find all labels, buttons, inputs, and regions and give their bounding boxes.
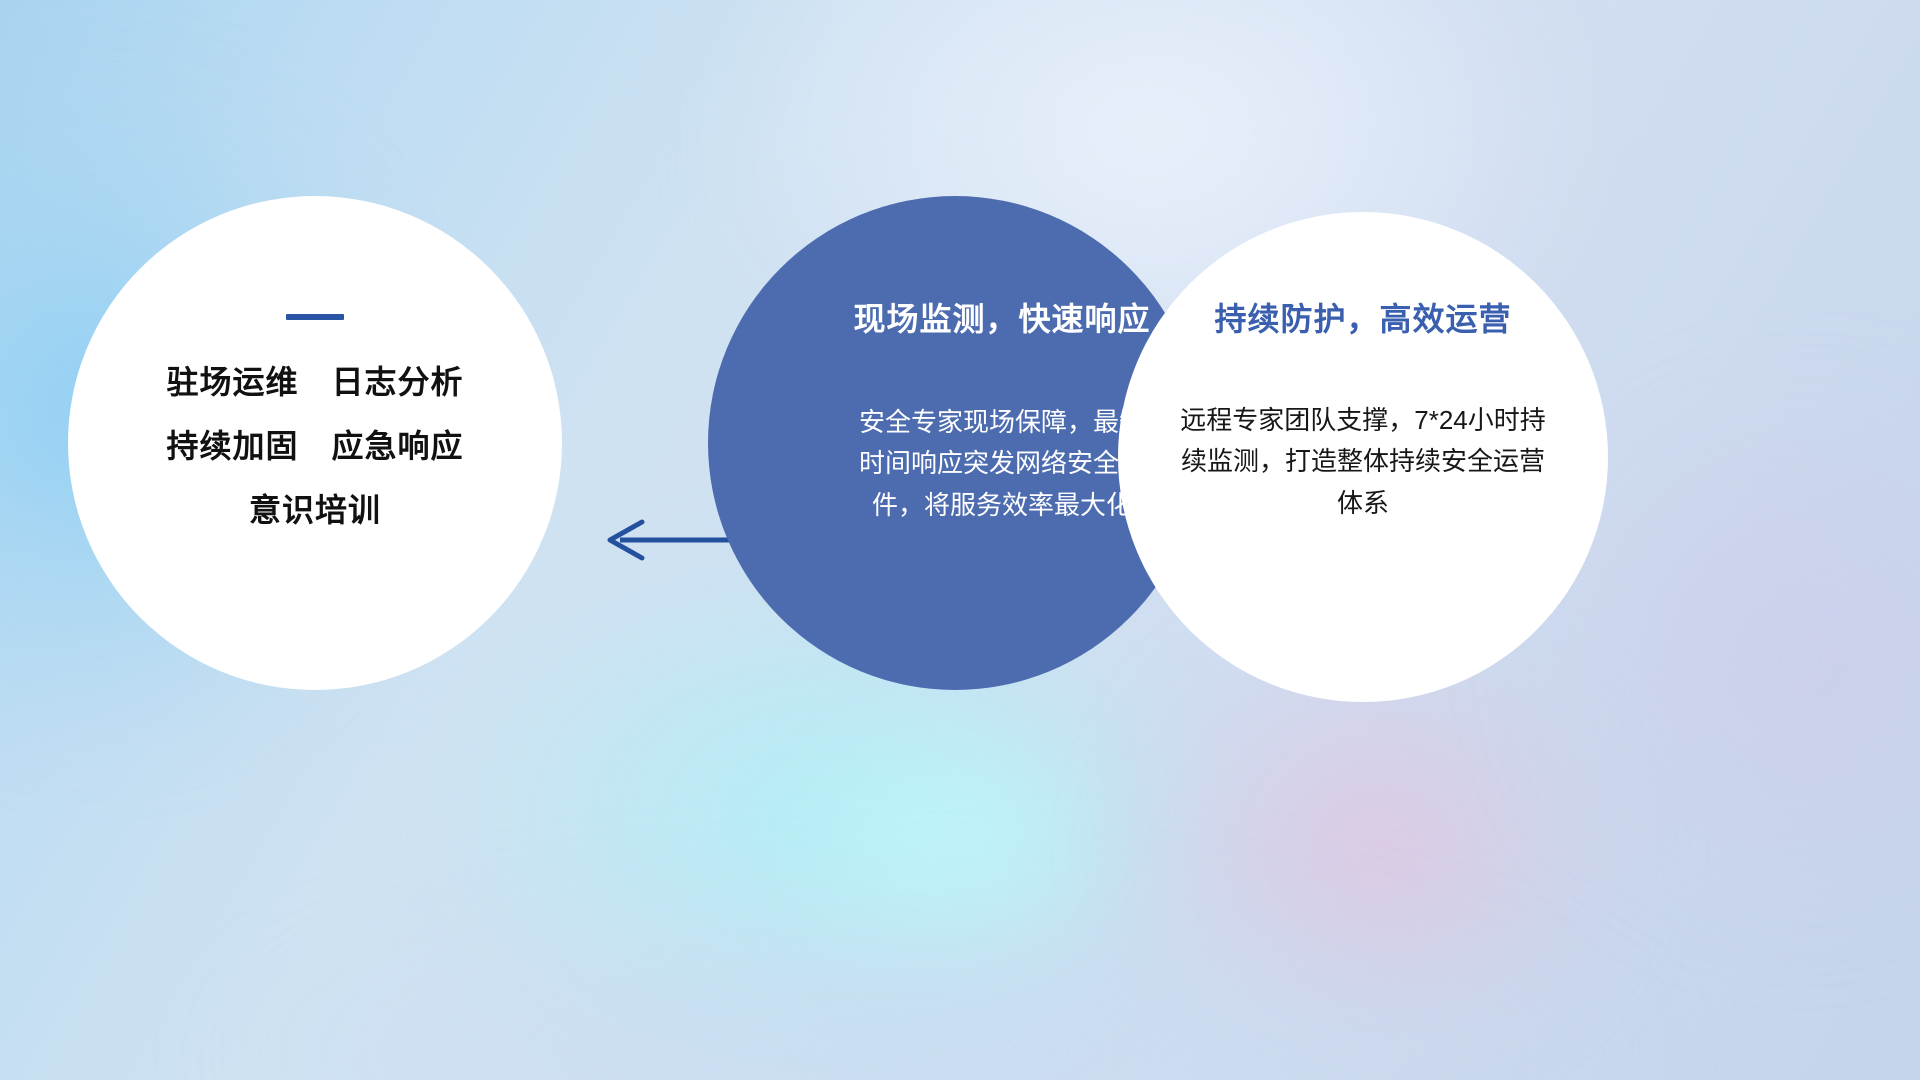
- right-circle-content: 持续防护，高效运营 远程专家团队支撑，7*24小时持续监测，打造整体持续安全运营…: [1118, 212, 1608, 702]
- right-circle-body: 远程专家团队支撑，7*24小时持续监测，打造整体持续安全运营体系: [1170, 400, 1556, 523]
- center-circle-title: 现场监测，快速响应: [853, 300, 1150, 338]
- slide-canvas: 驻场运维 日志分析 持续加固 应急响应 意识培训 现场监测，快速响应 安全专家现…: [0, 0, 1920, 1080]
- capability-line-1: 驻场运维 日志分析: [166, 366, 463, 398]
- right-circle-title: 持续防护，高效运营: [1214, 300, 1511, 338]
- accent-dash-divider: [286, 314, 344, 320]
- capability-line-3: 意识培训: [249, 494, 381, 526]
- center-circle-body: 安全专家现场保障，最短时间响应突发网络安全事件，将服务效率最大化: [852, 402, 1152, 525]
- capability-line-2: 持续加固 应急响应: [166, 430, 463, 462]
- left-circle-content: 驻场运维 日志分析 持续加固 应急响应 意识培训: [68, 196, 562, 690]
